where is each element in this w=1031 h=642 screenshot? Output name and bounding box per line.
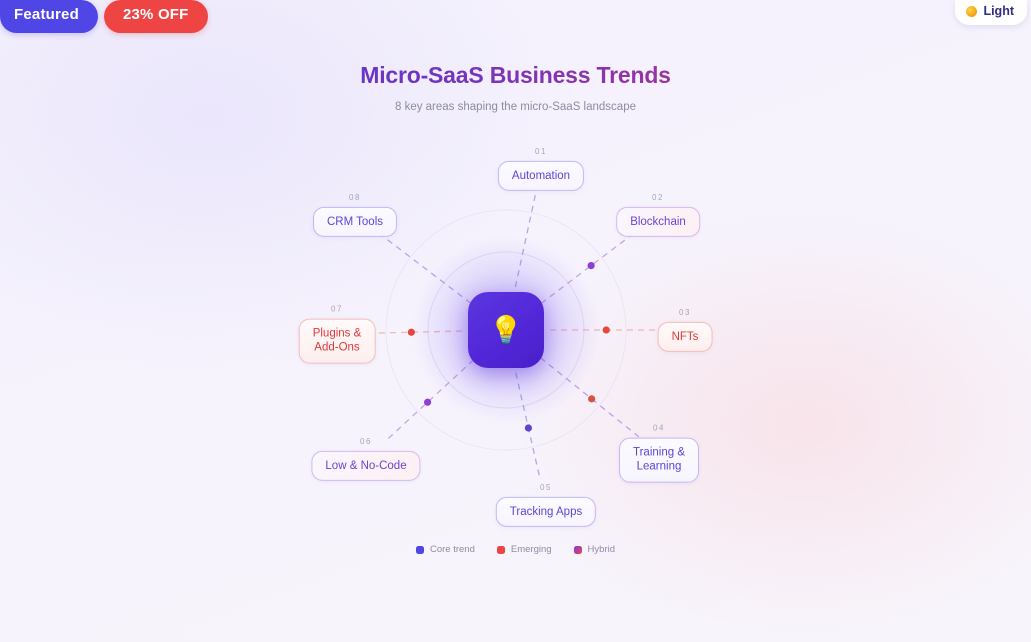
node-index: 08 [349,193,361,202]
lightbulb-icon: 💡 [489,317,523,344]
legend-label: Core trend [430,544,475,555]
legend-swatch [416,546,424,554]
node-index: 05 [540,483,552,492]
trend-node[interactable]: 07Plugins & Add-Ons [299,305,376,364]
trend-node[interactable]: 04Training & Learning [619,424,699,483]
node-label[interactable]: Automation [498,161,584,191]
legend-swatch [574,546,582,554]
trend-node[interactable]: 06Low & No-Code [311,437,420,481]
sun-icon [966,6,977,17]
node-label[interactable]: Training & Learning [619,438,699,483]
trend-node[interactable]: 01Automation [498,147,584,191]
legend-label: Emerging [511,544,552,555]
featured-badge[interactable]: Featured [0,0,98,33]
node-index: 07 [331,305,343,314]
center-hub[interactable]: 💡 [406,230,606,430]
legend-item: Hybrid [574,544,615,555]
node-index: 01 [535,147,547,156]
node-label[interactable]: Low & No-Code [311,451,420,481]
discount-badge[interactable]: 23% OFF [104,0,208,33]
theme-toggle[interactable]: Light [955,0,1027,25]
trend-node[interactable]: 02Blockchain [616,193,700,237]
legend-label: Hybrid [588,544,615,555]
node-index: 03 [679,308,691,317]
node-index: 04 [653,424,665,433]
badge-group: Featured 23% OFF [0,0,208,33]
node-label[interactable]: NFTs [658,322,713,352]
node-index: 02 [652,193,664,202]
hub-tile[interactable]: 💡 [468,292,544,368]
node-index: 06 [360,437,372,446]
legend-swatch [497,546,505,554]
trend-node[interactable]: 08CRM Tools [313,193,397,237]
legend-item: Emerging [497,544,552,555]
node-label[interactable]: Tracking Apps [496,497,596,527]
trend-node[interactable]: 03NFTs [658,308,713,352]
theme-toggle-label: Light [983,5,1014,18]
legend: Core trendEmergingHybrid [0,544,1031,555]
node-label[interactable]: CRM Tools [313,207,397,237]
trend-node[interactable]: 05Tracking Apps [496,483,596,527]
legend-item: Core trend [416,544,475,555]
node-label[interactable]: Plugins & Add-Ons [299,319,376,364]
node-label[interactable]: Blockchain [616,207,700,237]
